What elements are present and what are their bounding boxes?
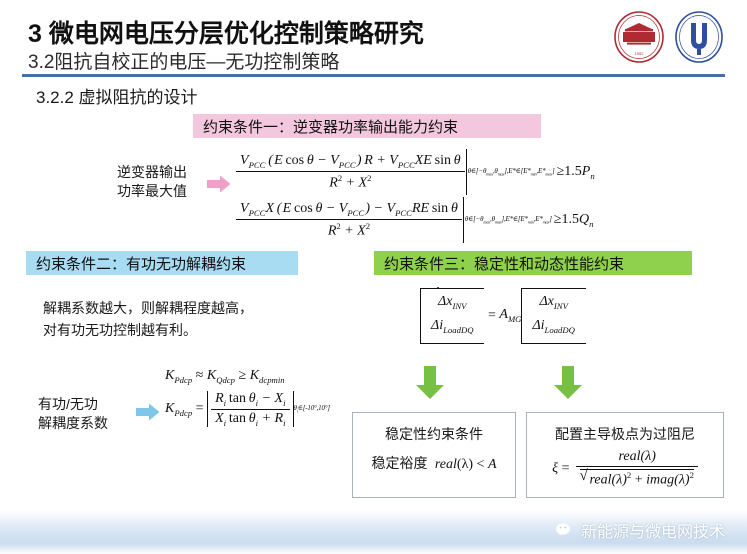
inverter-power-label-line2: 功率最大值 <box>117 182 187 201</box>
decoupling-coefficient-label-line2: 解耦度系数 <box>38 414 108 433</box>
stability-constraint-formula: 稳定裕度 real(λ) < A <box>353 453 515 473</box>
header-divider <box>22 74 725 77</box>
svg-text:1952: 1952 <box>635 51 645 56</box>
footer-brand-text: 新能源与微电网技术 <box>581 518 725 542</box>
slide-footer: 新能源与微电网技术 <box>0 510 747 554</box>
inverter-power-label-line1: 逆变器输出 <box>117 163 187 182</box>
stability-constraint-box: 稳定性约束条件 稳定裕度 real(λ) < A <box>352 412 516 498</box>
constraint-3-banner: 约束条件三：稳定性和动态性能约束 <box>374 251 692 275</box>
constraint-2-paragraph-line1: 解耦系数越大，则解耦程度越高， <box>43 297 253 319</box>
decoupling-relation: KPdcp ≈ KQdcp ≥ Kdcpmin <box>165 368 330 385</box>
formula-2-condition: θ∈[−θmax,θmax],E*∈[E*min,E*max] <box>465 215 552 224</box>
damping-ratio-denominator: real(λ)2 + imag(λ)2 <box>576 467 697 489</box>
damping-ratio-numerator: real(λ) <box>576 449 697 467</box>
decoupling-definition-lhs: KPdcp = <box>165 401 207 418</box>
arrow-down-icon <box>553 366 583 400</box>
decoupling-fraction: Ri tan θi − Xi Xi tan θi + Ri <box>211 391 289 428</box>
state-vector-rhs-row2: ΔiLoadDQ <box>530 316 576 340</box>
decoupling-numerator: Ri tan θi − Xi <box>211 391 289 410</box>
formula-1-rhs: ≥1.5Pn <box>557 164 595 181</box>
constraint-2-banner: 约束条件二：有功无功解耦约束 <box>26 251 298 275</box>
state-matrix-symbol: AMG <box>499 307 521 324</box>
formula-2-rhs: ≥1.5Qn <box>554 212 594 229</box>
damping-ratio-formula: ξ = real(λ) real(λ)2 + imag(λ)2 <box>527 449 723 489</box>
state-vector-lhs-row1: ΔxINV <box>429 292 475 316</box>
slide-header: 3 微电网电压分层优化控制策略研究 3.2阻抗自校正的电压—无功控制策略 195… <box>0 0 747 78</box>
footer-brand: 新能源与微电网技术 <box>555 518 725 542</box>
section-heading: 3.2.2 虚拟阻抗的设计 <box>36 83 198 108</box>
logo-group: 1952 <box>611 8 733 66</box>
damping-constraint-box: 配置主导极点为过阻尼 ξ = real(λ) real(λ)2 + imag(λ… <box>526 412 724 498</box>
inverter-power-label: 逆变器输出 功率最大值 <box>117 163 187 201</box>
decoupling-coefficient-label-line1: 有功/无功 <box>38 395 108 414</box>
damping-constraint-title: 配置主导极点为过阻尼 <box>527 424 723 444</box>
constraint-2-paragraph: 解耦系数越大，则解耦程度越高， 对有功无功控制越有利。 <box>43 297 253 341</box>
constraint-1-banner: 约束条件一：逆变器功率输出能力约束 <box>193 114 541 138</box>
formula-1-condition: θ∈[−θmax,θmax],E*∈[E*min,E*max] <box>468 167 555 176</box>
constraint-1-formula-2: VPCCX ( E cos θ − VPCC ) − VPCCRE sin θ … <box>236 196 595 244</box>
arrow-right-icon <box>207 175 231 193</box>
decoupling-abs-bars: Ri tan θi − Xi Xi tan θi + Ri <box>207 391 293 428</box>
decoupling-definition: KPdcp = Ri tan θi − Xi Xi tan θi + Ri θi… <box>165 391 330 428</box>
formula-2-fraction: VPCCX ( E cos θ − VPCC ) − VPCCRE sin θ … <box>236 201 462 239</box>
constraint-1-formula-1: VPCC ( E cos θ − VPCC ) R + VPCCXE sin θ… <box>236 148 595 196</box>
formula-1-numerator: VPCC ( E cos θ − VPCC ) R + VPCCXE sin θ <box>236 153 465 172</box>
university-seal-red-icon: 1952 <box>613 10 665 64</box>
state-equation-equals: = <box>484 308 499 324</box>
decoupling-coefficient-label: 有功/无功 解耦度系数 <box>38 395 108 433</box>
wechat-icon <box>555 522 575 538</box>
decoupling-denominator: Xi tan θi + Ri <box>211 410 289 428</box>
formula-1-eval-bar <box>466 149 467 195</box>
decoupling-condition: θi∈[-10°,10°] <box>294 404 330 413</box>
damping-ratio-fraction: real(λ) real(λ)2 + imag(λ)2 <box>576 449 697 489</box>
arrow-right-icon <box>136 403 160 421</box>
page-subtitle: 3.2阻抗自校正的电压—无功控制策略 <box>28 47 339 74</box>
damping-ratio-lhs: ξ = <box>552 461 573 476</box>
formula-1-denominator: R2 + X2 <box>236 172 465 192</box>
university-seal-blue-icon <box>673 10 725 64</box>
stability-margin-expression: real(λ) < A <box>431 457 496 472</box>
constraint-2-paragraph-line2: 对有功无功控制越有利。 <box>43 319 253 341</box>
stability-constraint-title: 稳定性约束条件 <box>353 424 515 444</box>
formula-1-fraction: VPCC ( E cos θ − VPCC ) R + VPCCXE sin θ… <box>236 153 465 191</box>
constraint-1-formulas: VPCC ( E cos θ − VPCC ) R + VPCCXE sin θ… <box>236 148 595 244</box>
formula-2-numerator: VPCCX ( E cos θ − VPCC ) − VPCCRE sin θ <box>236 201 462 220</box>
state-space-equation: ΔxINV ΔiLoadDQ = AMG ΔxINV ΔiLoadDQ <box>420 288 586 344</box>
state-vector-lhs: ΔxINV ΔiLoadDQ <box>420 288 484 344</box>
state-vector-rhs-row1: ΔxINV <box>530 292 576 316</box>
stability-margin-label: 稳定裕度 <box>371 455 427 471</box>
decoupling-formulas: KPdcp ≈ KQdcp ≥ Kdcpmin KPdcp = Ri tan θ… <box>165 368 330 427</box>
arrow-down-icon <box>415 366 445 400</box>
state-vector-lhs-row2: ΔiLoadDQ <box>429 316 475 340</box>
formula-2-eval-bar <box>463 197 464 243</box>
formula-2-denominator: R2 + X2 <box>236 220 462 240</box>
page-title: 3 微电网电压分层优化控制策略研究 <box>28 14 424 50</box>
state-vector-rhs: ΔxINV ΔiLoadDQ <box>521 288 585 344</box>
